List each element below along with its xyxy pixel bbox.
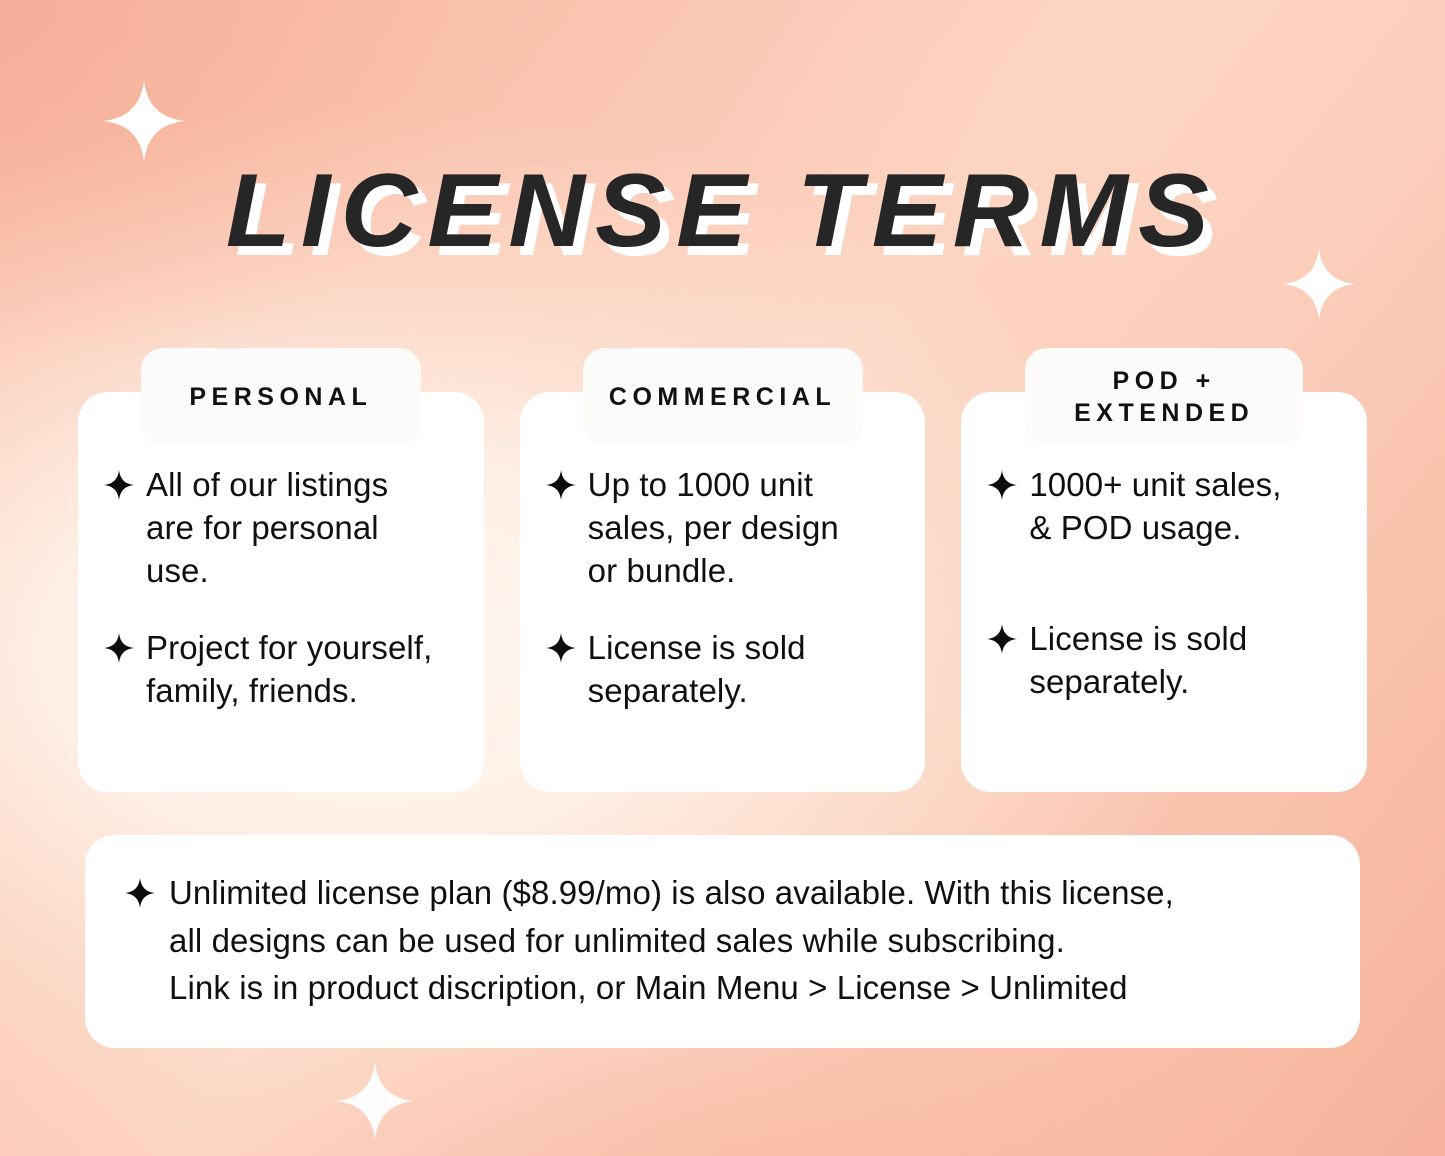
- license-card-personal: PERSONAL All of our listings are for per…: [78, 392, 484, 792]
- page-title: LICENSE TERMS: [0, 152, 1445, 271]
- bullet-list-commercial: Up to 1000 unit sales, per design or bun…: [546, 464, 900, 712]
- card-tab-pod-extended: POD + EXTENDED: [1025, 348, 1303, 446]
- bullet-text: License is sold separately.: [1029, 618, 1247, 704]
- card-tab-label: COMMERCIAL: [609, 381, 836, 413]
- list-item: License is sold separately.: [987, 618, 1341, 704]
- license-cards-row: PERSONAL All of our listings are for per…: [78, 348, 1367, 792]
- card-tab-label: PERSONAL: [189, 381, 372, 413]
- list-item: License is sold separately.: [546, 627, 900, 713]
- four-point-star-icon: [546, 633, 576, 663]
- bullet-list-pod-extended: 1000+ unit sales, & POD usage. License i…: [987, 464, 1341, 704]
- four-point-star-icon: [336, 1062, 414, 1140]
- bullet-text: Project for yourself, family, friends.: [146, 627, 432, 713]
- license-card-pod-extended: POD + EXTENDED 1000+ unit sales, & POD u…: [961, 392, 1367, 792]
- bullet-text: All of our listings are for personal use…: [146, 464, 388, 593]
- bullet-text: License is sold separately.: [588, 627, 806, 713]
- banner-text: Unlimited license plan ($8.99/mo) is als…: [169, 869, 1174, 1012]
- list-item: Project for yourself, family, friends.: [104, 627, 458, 713]
- card-tab-commercial: COMMERCIAL: [583, 348, 863, 446]
- four-point-star-icon: [104, 633, 134, 663]
- bullet-list-personal: All of our listings are for personal use…: [104, 464, 458, 712]
- four-point-star-icon: [546, 470, 576, 500]
- unlimited-plan-banner: Unlimited license plan ($8.99/mo) is als…: [85, 835, 1360, 1048]
- card-tab-label: POD + EXTENDED: [1041, 365, 1287, 429]
- list-item: Up to 1000 unit sales, per design or bun…: [546, 464, 900, 593]
- four-point-star-icon: [125, 878, 155, 908]
- four-point-star-icon: [987, 624, 1017, 654]
- list-item: All of our listings are for personal use…: [104, 464, 458, 593]
- list-item: 1000+ unit sales, & POD usage.: [987, 464, 1341, 550]
- bullet-text: Up to 1000 unit sales, per design or bun…: [588, 464, 839, 593]
- bullet-text: 1000+ unit sales, & POD usage.: [1029, 464, 1281, 550]
- four-point-star-icon: [104, 470, 134, 500]
- four-point-star-icon: [103, 80, 185, 162]
- card-tab-personal: PERSONAL: [141, 348, 421, 446]
- license-card-commercial: COMMERCIAL Up to 1000 unit sales, per de…: [520, 392, 926, 792]
- four-point-star-icon: [987, 470, 1017, 500]
- license-terms-page: LICENSE TERMS PERSONAL All of our listin…: [0, 0, 1445, 1156]
